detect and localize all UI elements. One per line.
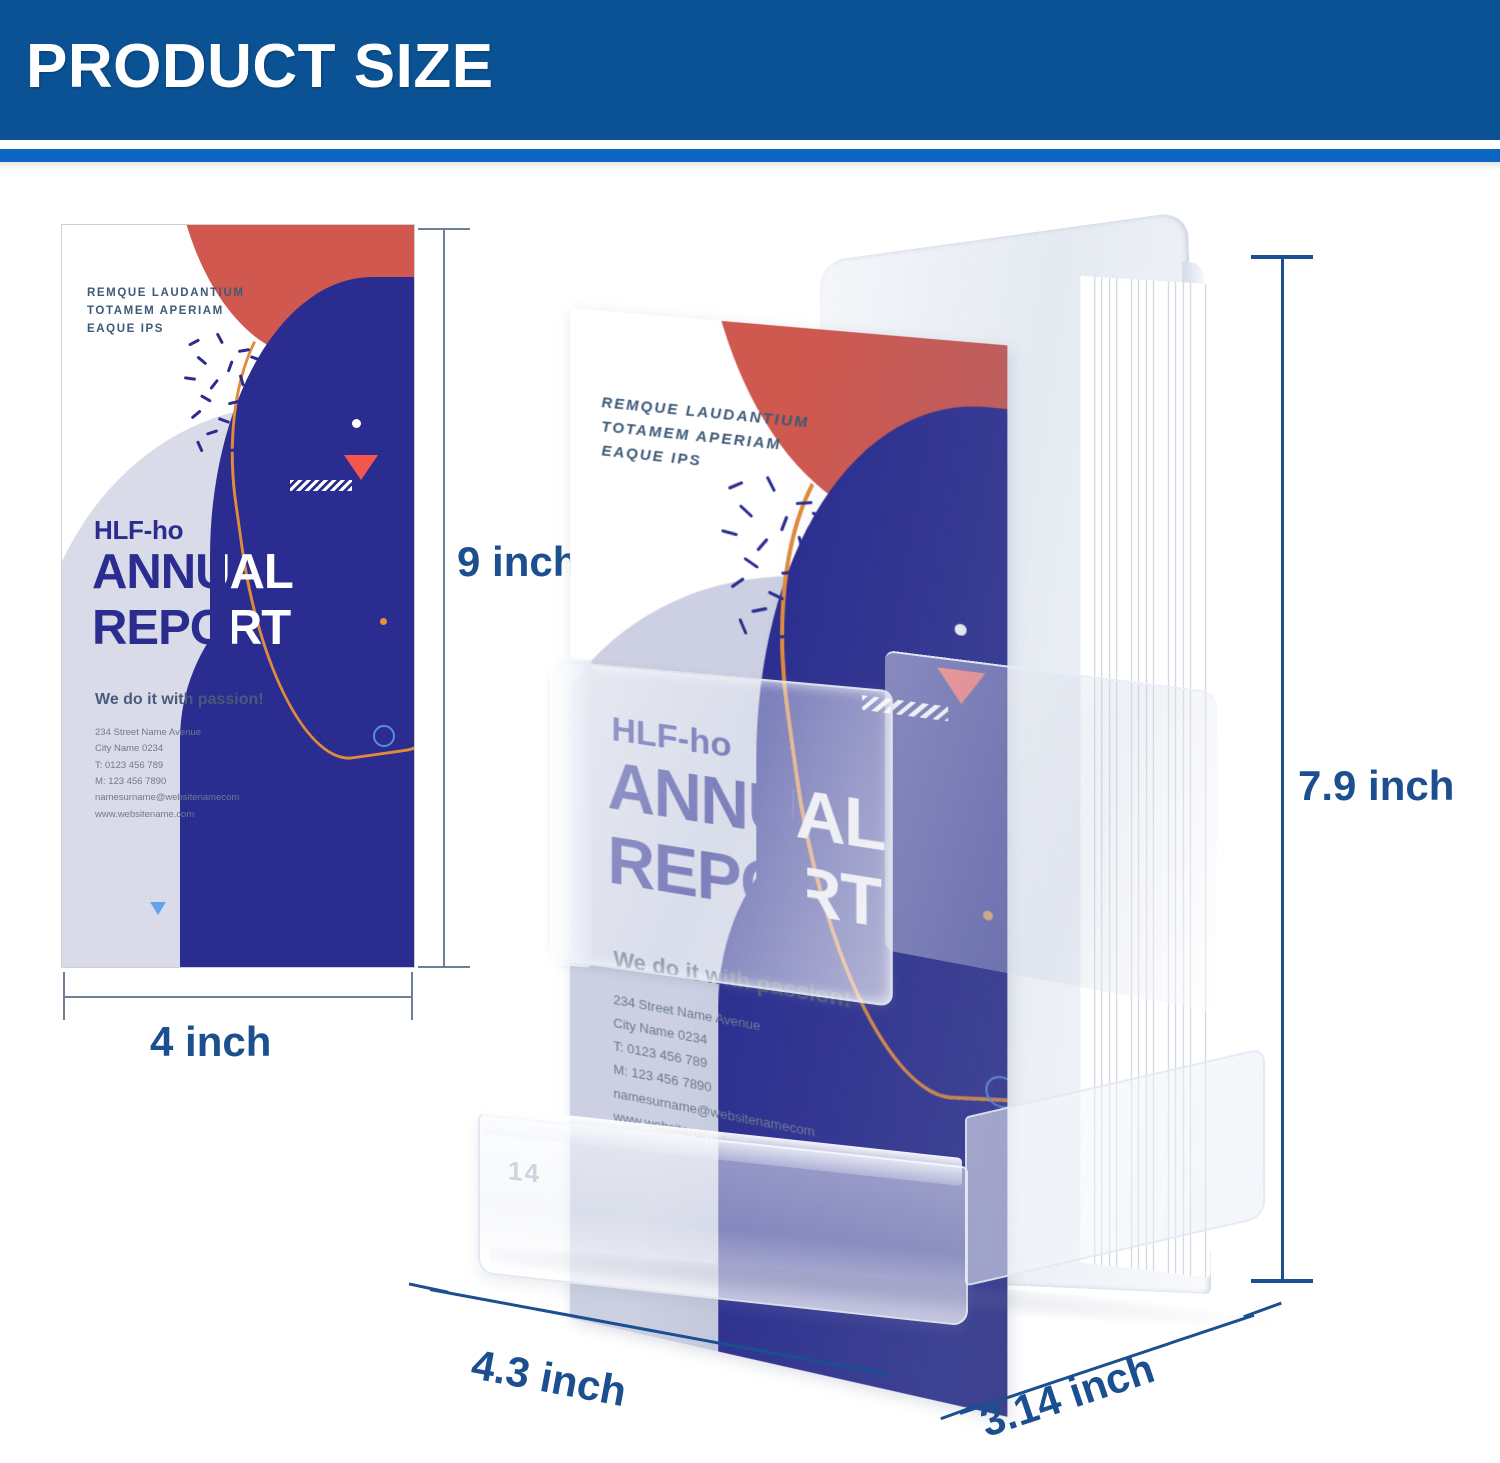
flat-brochure-image: REMQUE LAUDANTIUM TOTAMEM APERIAM EAQUE … [61,224,415,968]
dimension-label-brochure-width: 4 inch [150,1018,271,1066]
dimension-79in-cap-bottom [1251,1279,1313,1283]
product-size-infographic: PRODUCT SIZE REMQUE LAUDANTIUM TOTAMEM A… [0,0,1500,1463]
brochure-tagline: We do it with passion! [95,691,264,709]
header-gap [0,140,1500,149]
brochure-zigzag-decoration [290,480,352,491]
brochure-circle-decoration [373,725,395,747]
header-accent-stripe [0,149,1500,162]
brochure-orange-dot [380,618,387,625]
brochure-brand-name: HLF-ho [94,515,183,546]
header-drop-shadow [0,162,1500,170]
brochure-confetti-decoration [180,335,310,445]
dimension-label-holder-height: 7.9 inch [1298,762,1454,810]
page-title: PRODUCT SIZE [26,36,494,98]
brochure-white-dot [352,419,361,428]
dimension-79in-line [1281,256,1284,1282]
acrylic-pocket-right-wall [885,650,1217,1013]
brochure-contact-info: 234 Street Name Avenue City Name 0234 T:… [95,725,239,823]
dimension-4in-cap-right [411,972,413,1020]
dimension-4in-line [63,996,413,998]
front-brochure-confetti-decoration [716,474,899,650]
acrylic-pocket-left-wall [550,656,592,968]
brochure-blue-triangle-icon [150,902,166,915]
acrylic-brochure-holder-image: REMQUE LAUDANTIUM TOTAMEM APERIAM EAQUE … [420,220,1280,1360]
brochure-kicker-text: REMQUE LAUDANTIUM TOTAMEM APERIAM EAQUE … [87,285,245,338]
brochure-coral-triangle-icon [344,455,378,480]
acrylic-front-pocket-lip [552,660,893,1007]
